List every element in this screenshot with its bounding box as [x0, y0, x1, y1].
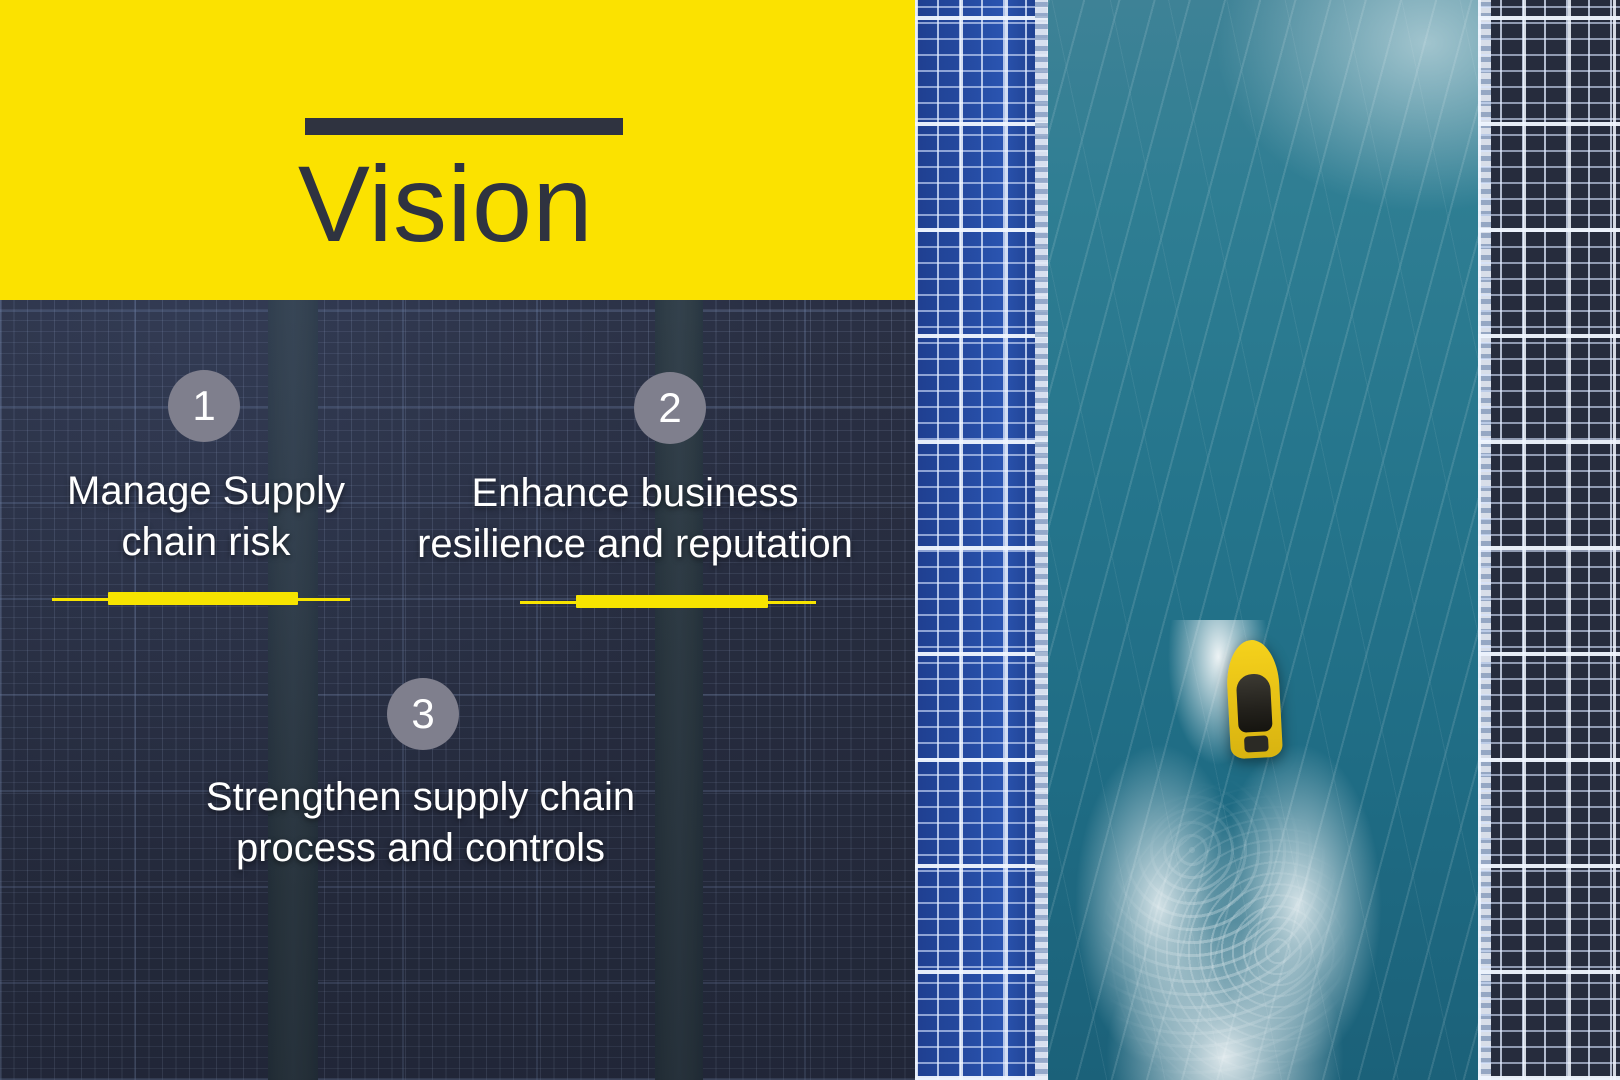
- bright-panel-string-lines: [915, 0, 1048, 1080]
- vision-item-3: 3 Strengthen supply chain process and co…: [148, 678, 693, 874]
- item-text-2: Enhance business resilience and reputati…: [370, 468, 900, 570]
- item-number-3: 3: [411, 693, 434, 735]
- page-title: Vision: [0, 150, 915, 258]
- item-number-2: 2: [658, 387, 681, 429]
- boat-rear-deck: [1244, 735, 1269, 752]
- slide-vision: Vision 1 Manage Supply chain risk 2 Enha…: [0, 0, 1620, 1080]
- divider-thick-bar-1: [108, 592, 298, 605]
- item-text-1: Manage Supply chain risk: [16, 466, 396, 568]
- title-banner: Vision: [0, 0, 915, 300]
- page-title-label: Vision: [298, 150, 593, 258]
- boat-wake: [1060, 620, 1390, 1080]
- vision-item-1: 1 Manage Supply chain risk: [16, 370, 396, 568]
- title-rule-bar: [305, 118, 623, 135]
- item-number-badge-2: 2: [634, 372, 706, 444]
- pontoon-float-edge-left: [1035, 0, 1048, 1080]
- bright-panel-string-lines-right: [1478, 0, 1620, 1080]
- bright-solar-panel-strip-right: [1478, 0, 1620, 1080]
- vision-item-2: 2 Enhance business resilience and reputa…: [370, 372, 900, 570]
- boat-cockpit: [1236, 673, 1273, 733]
- bright-solar-panel-strip-left: [915, 0, 1048, 1080]
- item-number-badge-3: 3: [387, 678, 459, 750]
- wake-foam: [1060, 620, 1390, 1080]
- item-text-3: Strengthen supply chain process and cont…: [148, 772, 693, 874]
- divider-thick-bar-2: [576, 595, 768, 608]
- item-number-badge-1: 1: [168, 370, 240, 442]
- item-number-1: 1: [192, 385, 215, 427]
